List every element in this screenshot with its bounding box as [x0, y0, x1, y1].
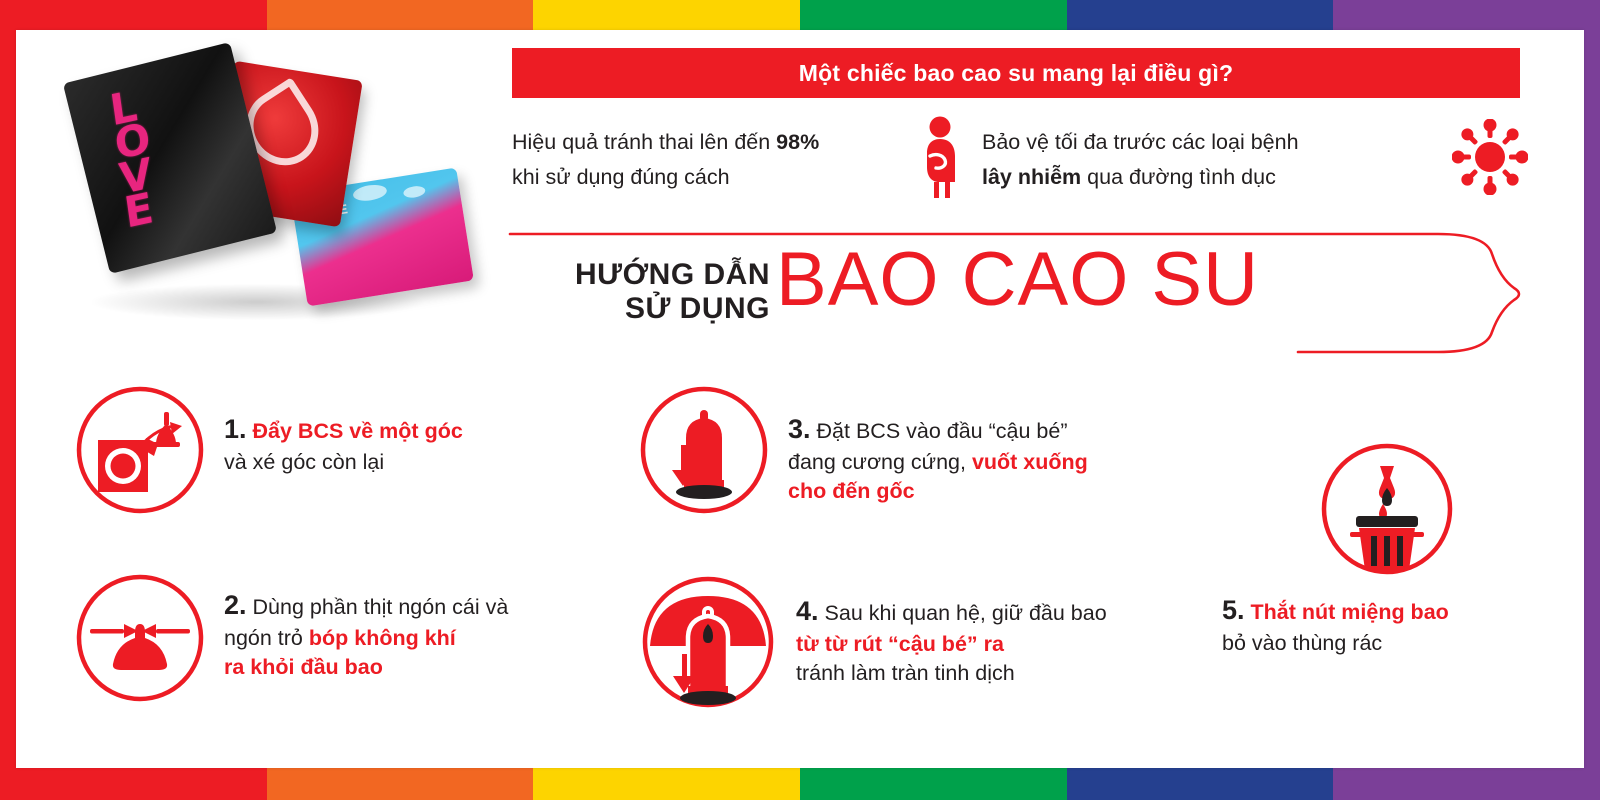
step-2: 2. Dùng phần thịt ngón cái và ngón trỏ b…: [74, 572, 614, 709]
border-edge-right: [1584, 0, 1600, 800]
rainbow-stripe-green: [800, 768, 1067, 800]
title-big: BAO CAO SU: [776, 242, 1259, 318]
step-5-text: 5. Thắt nút miệng bao bỏ vào thùng rác: [1222, 593, 1552, 658]
step-5: 5. Thắt nút miệng bao bỏ vào thùng rác: [1222, 438, 1552, 658]
benefit-2-text: Bảo vệ tối đa trước các loại bệnh lây nh…: [982, 125, 1299, 195]
step-3-part-3: cho đến gốc: [788, 479, 915, 503]
rainbow-stripe-orange: [267, 0, 534, 30]
step-3-part-0: Đặt BCS vào đầu “cậu bé”: [817, 419, 1068, 443]
pregnant-woman-icon: [910, 116, 968, 203]
step-2-number: 2.: [224, 590, 247, 620]
condom-trash-bin-icon: [1316, 438, 1458, 585]
step-5-part-1: bỏ vào thùng rác: [1222, 631, 1382, 655]
rainbow-stripe-purple: [1333, 0, 1600, 30]
benefit-2-line2-suffix: qua đường tình dục: [1081, 165, 1276, 189]
step-4-text: 4. Sau khi quan hệ, giữ đầu bao từ từ rú…: [796, 572, 1107, 687]
condom-packet-tear-icon: [74, 384, 206, 521]
step-4-part-2: tránh làm tràn tinh dịch: [796, 661, 1015, 685]
step-1-part-1: và xé góc còn lại: [224, 450, 384, 474]
virus-icon: [1452, 119, 1528, 200]
rainbow-stripe-red: [0, 0, 267, 30]
rainbow-stripe-blue: [1067, 768, 1334, 800]
benefit-1-text: Hiệu quả tránh thai lên đến 98% khi sử d…: [512, 125, 819, 195]
step-3: 3. Đặt BCS vào đầu “cậu bé” đang cương c…: [638, 384, 1178, 521]
step-2-part-0: Dùng phần thịt ngón cái và: [253, 595, 509, 619]
step-2-text: 2. Dùng phần thịt ngón cái và ngón trỏ b…: [224, 572, 508, 681]
benefit-contraception: Hiệu quả tránh thai lên đến 98% khi sử d…: [512, 112, 982, 207]
rainbow-stripe-red: [0, 768, 267, 800]
step-3-part-1: đang cương cứng,: [788, 450, 972, 474]
rainbow-stripe-purple: [1333, 768, 1600, 800]
condom-pinch-tip-icon: [74, 572, 206, 709]
step-4-part-1: từ từ rút “cậu bé” ra: [796, 632, 1004, 656]
benefits-row: Hiệu quả tránh thai lên đến 98% khi sử d…: [512, 112, 1542, 207]
rainbow-border-top: [0, 0, 1600, 30]
step-1-text: 1. Đẩy BCS về một góc và xé góc còn lại: [224, 384, 463, 477]
rainbow-border-bottom: [0, 768, 1600, 800]
packet-black-label: LOVE: [108, 87, 164, 232]
benefit-2-bold: lây nhiễm: [982, 165, 1081, 189]
benefit-std-protection: Bảo vệ tối đa trước các loại bệnh lây nh…: [982, 112, 1542, 207]
rainbow-stripe-yellow: [533, 768, 800, 800]
step-2-part-1: ngón trỏ: [224, 626, 309, 650]
step-5-number: 5.: [1222, 595, 1245, 625]
benefit-1-line1-prefix: Hiệu quả tránh thai lên đến: [512, 130, 776, 154]
title-small-line1: HƯỚNG DẪN: [520, 258, 770, 292]
border-edge-left: [0, 0, 16, 800]
condom-rolldown-icon: [638, 384, 770, 521]
title-small-line2: SỬ DỤNG: [520, 292, 770, 326]
rainbow-stripe-blue: [1067, 0, 1334, 30]
main-title-block: HƯỚNG DẪN SỬ DỤNG BAO CAO SU: [508, 228, 1538, 358]
step-3-text: 3. Đặt BCS vào đầu “cậu bé” đang cương c…: [788, 384, 1088, 505]
step-4-number: 4.: [796, 596, 819, 626]
condom-packets-photo: LOVE LOVE: [62, 52, 482, 352]
rainbow-stripe-orange: [267, 768, 534, 800]
title-small: HƯỚNG DẪN SỬ DỤNG: [520, 258, 770, 325]
step-2-part-2: bóp không khí: [309, 626, 456, 650]
step-1: 1. Đẩy BCS về một góc và xé góc còn lại: [74, 384, 594, 521]
step-2-part-3: ra khỏi đầu bao: [224, 655, 383, 679]
benefit-1-line2: khi sử dụng đúng cách: [512, 165, 730, 189]
step-4: 4. Sau khi quan hệ, giữ đầu bao từ từ rú…: [638, 572, 1198, 717]
infographic-poster: LOVE LOVE Một chiếc bao cao su mang lại …: [0, 0, 1600, 800]
rainbow-stripe-green: [800, 0, 1067, 30]
benefit-1-percent: 98%: [776, 130, 819, 154]
step-4-part-0: Sau khi quan hệ, giữ đầu bao: [825, 601, 1107, 625]
step-1-part-0: Đẩy BCS về một góc: [253, 419, 463, 443]
benefit-2-line1: Bảo vệ tối đa trước các loại bệnh: [982, 130, 1299, 154]
condom-withdraw-icon: [638, 572, 778, 717]
rainbow-stripe-yellow: [533, 0, 800, 30]
header-banner: Một chiếc bao cao su mang lại điều gì?: [512, 48, 1520, 98]
step-3-number: 3.: [788, 414, 811, 444]
banner-title: Một chiếc bao cao su mang lại điều gì?: [799, 60, 1233, 87]
step-3-part-2: vuốt xuống: [972, 450, 1088, 474]
step-5-part-0: Thắt nút miệng bao: [1251, 600, 1449, 624]
step-1-number: 1.: [224, 414, 247, 444]
